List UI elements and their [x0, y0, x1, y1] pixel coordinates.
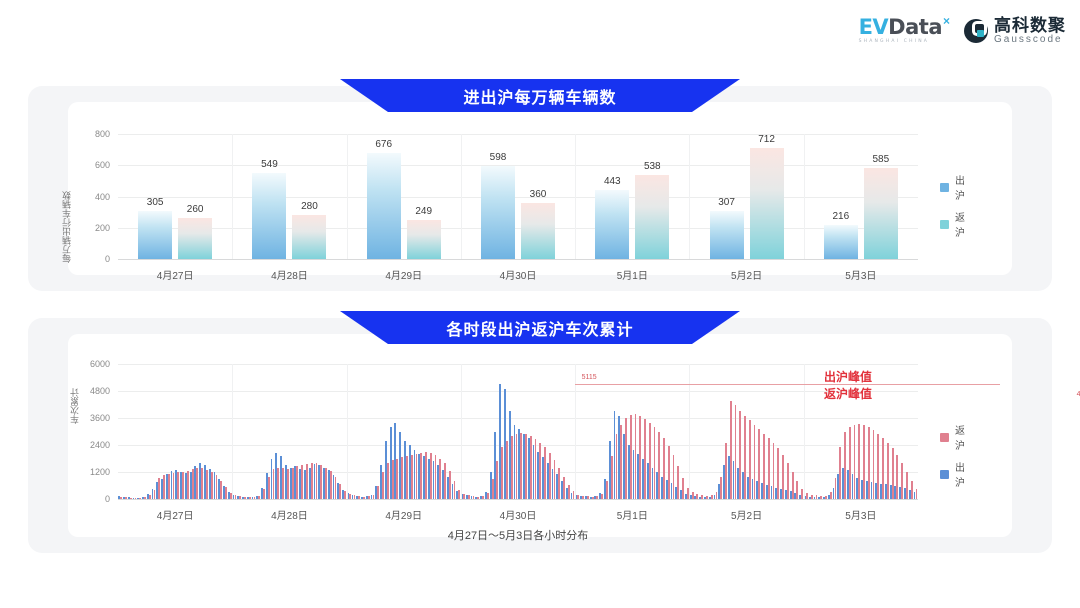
chart2-hourly-bar-ret — [316, 463, 318, 499]
page-header: EV Data × SHANGHAI CHINA 高科数聚 Gausscode — [0, 0, 1080, 62]
chart2-hourly-bar-ret — [668, 446, 670, 499]
chart2-y-tick-1200: 1200 — [66, 467, 110, 477]
chart2-hourly-bar-ret — [730, 401, 732, 499]
chart2-hourly-bar-ret — [892, 448, 894, 499]
chart2-hourly-bar-ret — [525, 434, 527, 499]
chart1-bar-label: 249 — [402, 206, 446, 217]
chart2-gridline — [118, 364, 918, 365]
chart1-bar-返沪-4月30日 — [521, 203, 555, 259]
chart2-hourly-bar-ret — [825, 496, 827, 499]
chart2-hourly-bar-ret — [582, 496, 584, 499]
chart2-hourly-bar-ret — [754, 425, 756, 499]
chart2-gridline — [118, 418, 918, 419]
chart2-hourly-bar-ret — [882, 438, 884, 499]
chart2-hourly-bar-ret — [211, 472, 213, 499]
chart2-hourly-bar-ret — [235, 495, 237, 499]
chart2-hourly-bar-ret — [277, 468, 279, 500]
chart2-hourly-bar-ret — [225, 487, 227, 499]
chart2-hourly-bar-ret — [406, 456, 408, 499]
chart2-hourly-bar-ret — [239, 496, 241, 499]
chart2-hourly-bar-ret — [673, 455, 675, 499]
chart2-gridline — [118, 391, 918, 392]
chart2-group-separator — [461, 364, 462, 499]
chart2-hourly-bar-ret — [244, 497, 246, 499]
chart1-bar-label: 305 — [133, 197, 177, 208]
chart2-hourly-bar-ret — [496, 461, 498, 499]
chart2-group-separator — [347, 364, 348, 499]
chart1-bar-返沪-5月2日 — [750, 148, 784, 259]
chart1-bar-label: 676 — [362, 139, 406, 150]
chart2-x-tick-5月2日: 5月2日 — [731, 507, 762, 522]
chart2-hourly-bar-ret — [377, 486, 379, 499]
chart2-hourly-bar-ret — [568, 485, 570, 499]
chart1-x-tick-4月30日: 4月30日 — [500, 267, 537, 282]
chart2-hourly-bar-ret — [306, 464, 308, 499]
gausscode-g-icon — [964, 19, 988, 43]
chart2-hourly-bar-ret — [454, 481, 456, 499]
chart2-hourly-bar-ret — [258, 496, 260, 499]
chart2-hourly-bar-ret — [506, 441, 508, 500]
chart2-hourly-bar-ret — [296, 466, 298, 499]
chart2-hourly-bar-ret — [320, 465, 322, 499]
chart1-group-separator — [575, 134, 576, 259]
chart2-legend-swatch-返沪 — [940, 433, 949, 442]
chart2-hourly-bar-ret — [154, 490, 156, 499]
chart2-hourly-bar-ret — [630, 415, 632, 499]
chart2-group-separator — [232, 364, 233, 499]
chart1-group-separator — [347, 134, 348, 259]
chart2-hourly-bar-ret — [516, 434, 518, 499]
chart1-x-tick-4月28日: 4月28日 — [271, 267, 308, 282]
chart1-title-banner: 进出沪每万辆车辆数 — [340, 79, 740, 112]
evdata-logo-wordmark: EV Data × — [859, 17, 950, 38]
chart2-hourly-bar-ret — [658, 432, 660, 500]
chart1-legend-item-出沪[interactable]: 出沪 — [940, 172, 965, 202]
chart2-hourly-bar-ret — [887, 443, 889, 499]
chart2-hourly-bar-ret — [477, 497, 479, 499]
chart1-plot: 每万辆出行车辆数02004006008003052604月27日5492804月… — [118, 134, 918, 259]
chart2-x-tick-4月30日: 4月30日 — [500, 507, 537, 522]
chart2-hourly-bar-ret — [349, 494, 351, 499]
chart2-peak-label-out-peak: 出沪峰值 — [824, 368, 872, 385]
chart2-hourly-bar-ret — [325, 468, 327, 500]
chart2-hourly-bar-ret — [182, 472, 184, 499]
chart2-hourly-bar-ret — [539, 443, 541, 499]
chart1-legend-swatch-返沪 — [940, 220, 949, 229]
chart2-x-axis-label: 4月27日～5月3日各小时分布 — [448, 527, 589, 543]
chart2-hourly-bar-ret — [763, 434, 765, 499]
chart2-hourly-bar-ret — [301, 465, 303, 499]
chart2-hourly-bar-ret — [773, 443, 775, 499]
chart2-hourly-bar-ret — [811, 495, 813, 500]
chart2-hourly-bar-ret — [487, 493, 489, 499]
chart2-hourly-bar-ret — [739, 411, 741, 499]
chart2-hourly-bar-ret — [792, 472, 794, 499]
chart1-gridline — [118, 259, 918, 260]
chart2-peak-label-ret-peak: 返沪峰值 — [824, 385, 872, 402]
chart1-y-tick-0: 0 — [70, 254, 110, 264]
chart1-y-tick-600: 600 — [70, 160, 110, 170]
chart2-hourly-bar-ret — [411, 455, 413, 499]
chart2-hourly-bar-ret — [577, 495, 579, 499]
chart1-bar-label: 585 — [859, 154, 903, 165]
chart2-hourly-bar-ret — [420, 453, 422, 499]
chart2-hourly-bar-ret — [125, 497, 127, 499]
chart2-hourly-bar-ret — [177, 472, 179, 499]
chart2-hourly-bar-ret — [816, 495, 818, 499]
gausscode-logo-cn: 高科数聚 — [994, 17, 1066, 35]
chart2-hourly-bar-ret — [387, 463, 389, 499]
chart2-title-banner: 各时段出沪返沪车次累计 — [340, 311, 740, 344]
chart2-x-tick-5月1日: 5月1日 — [617, 507, 648, 522]
chart1-y-tick-400: 400 — [70, 192, 110, 202]
chart2-hourly-bar-ret — [544, 447, 546, 499]
chart2-hourly-bar-ret — [849, 427, 851, 499]
gausscode-logo-text: 高科数聚 Gausscode — [994, 17, 1066, 45]
chart1-group-separator — [232, 134, 233, 259]
chart2-hourly-bar-ret — [758, 429, 760, 499]
chart2-hourly-bar-ret — [716, 492, 718, 499]
chart2-hourly-bar-ret — [854, 425, 856, 499]
chart2-hourly-bar-ret — [896, 455, 898, 499]
chart2-hourly-bar-ret — [249, 497, 251, 499]
logo-group: EV Data × SHANGHAI CHINA 高科数聚 Gausscode — [859, 17, 1066, 45]
chart1-bar-label: 280 — [287, 201, 331, 212]
chart2-hourly-bar-ret — [787, 463, 789, 499]
chart2-hourly-bar-ret — [468, 495, 470, 499]
chart2-hourly-bar-ret — [416, 454, 418, 499]
chart2-hourly-bar-ret — [530, 436, 532, 499]
chart2-hourly-bar-ret — [373, 495, 375, 499]
chart2-hourly-bar-ret — [187, 471, 189, 499]
chart1-legend-swatch-出沪 — [940, 183, 949, 192]
chart2-hourly-bar-ret — [768, 438, 770, 499]
chart2-hourly-bar-ret — [725, 443, 727, 499]
evdata-logo-x-icon: × — [943, 15, 950, 27]
chart2-peak-line-out-peak — [575, 384, 1000, 385]
chart2-hourly-bar-ret — [473, 496, 475, 499]
chart2-hourly-bar-ret — [587, 496, 589, 499]
chart2-hourly-bar-ret — [601, 494, 603, 499]
chart2-hourly-bar-ret — [877, 434, 879, 499]
chart1-bar-label: 260 — [173, 204, 217, 215]
chart2-hourly-bar-ret — [435, 455, 437, 499]
chart2-hourly-bar-ret — [639, 416, 641, 499]
chart2-hourly-bar-ret — [616, 434, 618, 499]
chart2-hourly-bar-ret — [339, 484, 341, 499]
chart2-hourly-bar-ret — [777, 448, 779, 499]
chart2-hourly-bar-ret — [906, 472, 908, 499]
chart2-hourly-bar-ret — [273, 469, 275, 499]
chart1-bar-出沪-4月29日 — [367, 153, 401, 259]
chart2-hourly-bar-ret — [368, 496, 370, 499]
chart2-plot: 车次累计0120024003600480060004月27日4月28日4月29日… — [118, 364, 918, 499]
chart2-hourly-bar-ret — [720, 477, 722, 500]
evdata-logo-data-text: Data — [888, 17, 942, 38]
chart1-bar-返沪-4月27日 — [178, 218, 212, 259]
chart2-hourly-bar-ret — [511, 436, 513, 499]
chart2-hourly-bar-ret — [554, 460, 556, 499]
chart1-bar-返沪-5月3日 — [864, 168, 898, 259]
chart2-hourly-bar-ret — [549, 453, 551, 499]
chart2-hourly-bar-ret — [149, 495, 151, 500]
chart2-hourly-bar-ret — [292, 468, 294, 500]
chart1-group-separator — [461, 134, 462, 259]
chart2-hourly-bar-ret — [120, 497, 122, 499]
chart1-bar-label: 307 — [705, 197, 749, 208]
chart2-y-tick-2400: 2400 — [66, 440, 110, 450]
chart2-hourly-bar-ret — [654, 427, 656, 499]
chart2-hourly-bar-ret — [844, 432, 846, 500]
chart1-y-tick-200: 200 — [70, 223, 110, 233]
chart1-bar-返沪-4月29日 — [407, 220, 441, 259]
chart2-x-tick-4月29日: 4月29日 — [385, 507, 422, 522]
chart2-hourly-bar-ret — [220, 481, 222, 499]
chart2-x-tick-5月3日: 5月3日 — [845, 507, 876, 522]
chart2-hourly-bar-ret — [201, 468, 203, 499]
chart2-hourly-bar-ret — [873, 430, 875, 499]
chart2-hourly-bar-ret — [492, 479, 494, 499]
chart1-bar-出沪-4月27日 — [138, 211, 172, 259]
chart2-hourly-bar-ret — [620, 425, 622, 499]
chart2-hourly-bar-ret — [254, 497, 256, 499]
chart2-hourly-bar-ret — [392, 460, 394, 499]
gausscode-logo-en: Gausscode — [994, 35, 1066, 46]
chart2-hourly-bar-ret — [835, 478, 837, 499]
chart2-gridline — [118, 499, 918, 500]
chart1-bar-label: 598 — [476, 152, 520, 163]
chart2-hourly-bar-ret — [649, 423, 651, 500]
chart2-hourly-bar-ret — [135, 498, 137, 499]
chart2-hourly-bar-ret — [130, 498, 132, 499]
chart1-gridline — [118, 228, 918, 229]
chart1-bar-出沪-4月30日 — [481, 166, 515, 259]
chart2-hourly-bar-ret — [358, 496, 360, 499]
chart1-group-separator — [804, 134, 805, 259]
chart2-peak-value-out-peak: 5115 — [582, 374, 597, 381]
chart2-hourly-bar-ret — [206, 470, 208, 499]
chart2-hourly-bar-ret — [706, 496, 708, 499]
evdata-logo-subtitle: SHANGHAI CHINA — [859, 40, 930, 45]
chart1-group-separator — [689, 134, 690, 259]
chart2-hourly-bar-ret — [606, 481, 608, 499]
chart1-bar-出沪-5月3日 — [824, 225, 858, 259]
chart2-hourly-bar-ret — [611, 456, 613, 499]
chart2-hourly-bar-ret — [401, 457, 403, 499]
chart1-bar-返沪-4月28日 — [292, 215, 326, 259]
chart2-hourly-bar-ret — [287, 469, 289, 499]
chart2-hourly-bar-ret — [216, 475, 218, 499]
chart2-hourly-bar-ret — [425, 452, 427, 499]
chart1-bar-出沪-5月1日 — [595, 190, 629, 259]
chart2-hourly-bar-ret — [644, 419, 646, 499]
chart1-x-tick-4月29日: 4月29日 — [385, 267, 422, 282]
chart2-y-tick-6000: 6000 — [66, 359, 110, 369]
chart1-legend-item-返沪[interactable]: 返沪 — [940, 209, 965, 239]
chart1-x-tick-5月3日: 5月3日 — [845, 267, 876, 282]
chart2-hourly-bar-ret — [263, 489, 265, 499]
chart2-hourly-bar-ret — [330, 471, 332, 499]
chart2-legend-label: 出沪 — [955, 459, 965, 489]
chart1-legend-label: 出沪 — [955, 172, 965, 202]
chart1-x-tick-5月2日: 5月2日 — [731, 267, 762, 282]
chart2-y-tick-4800: 4800 — [66, 386, 110, 396]
chart2-hourly-bar-ret — [144, 497, 146, 499]
chart2-hourly-bar-ret — [535, 439, 537, 499]
chart1-x-tick-5月1日: 5月1日 — [617, 267, 648, 282]
chart2-hourly-bar-ret — [692, 492, 694, 499]
evdata-logo-ev-text: EV — [859, 17, 889, 38]
chart1-legend-label: 返沪 — [955, 209, 965, 239]
chart2-hourly-bar-ret — [354, 495, 356, 499]
chart2-hourly-bar-ret — [901, 463, 903, 499]
chart2-hourly-bar-ret — [820, 496, 822, 499]
chart2-hourly-bar-ret — [158, 478, 160, 499]
chart1-bar-返沪-5月1日 — [635, 175, 669, 259]
chart2-hourly-bar-ret — [868, 427, 870, 499]
chart1-bar-label: 443 — [590, 176, 634, 187]
chart2-hourly-bar-ret — [382, 472, 384, 499]
gausscode-logo: 高科数聚 Gausscode — [964, 17, 1066, 45]
chart2-x-tick-4月27日: 4月27日 — [157, 507, 194, 522]
chart2-hourly-bar-ret — [463, 494, 465, 499]
chart2-y-tick-3600: 3600 — [66, 413, 110, 423]
chart2-hourly-bar-ret — [520, 433, 522, 499]
chart2-hourly-bar-ret — [596, 496, 598, 499]
chart2-hourly-bar-ret — [282, 468, 284, 499]
chart2-legend-swatch-出沪 — [940, 470, 949, 479]
chart2-hourly-bar-ret — [863, 425, 865, 499]
chart2-hourly-bar-ret — [444, 463, 446, 499]
chart1-y-tick-800: 800 — [70, 129, 110, 139]
chart1-legend: 出沪返沪 — [940, 172, 965, 246]
chart2-hourly-bar-ret — [192, 469, 194, 499]
chart1-bar-出沪-5月2日 — [710, 211, 744, 259]
chart2-hourly-bar-ret — [911, 481, 913, 499]
chart1-bar-label: 360 — [516, 189, 560, 200]
chart2-hourly-bar-ret — [839, 447, 841, 499]
chart2-hourly-bar-ret — [311, 463, 313, 499]
chart2-hourly-bar-ret — [682, 478, 684, 499]
chart2-legend-item-返沪[interactable]: 返沪 — [940, 422, 965, 452]
chart2-hourly-bar-ret — [735, 405, 737, 500]
chart2-hourly-bar-ret — [744, 416, 746, 499]
chart2-hourly-bar-ret — [430, 453, 432, 499]
chart2-hourly-bar-ret — [482, 496, 484, 499]
chart2-hourly-bar-ret — [858, 424, 860, 499]
chart2-legend-item-出沪[interactable]: 出沪 — [940, 459, 965, 489]
chart2-hourly-bar-ret — [168, 474, 170, 499]
chart2-hourly-bar-ret — [677, 466, 679, 499]
chart2-hourly-bar-ret — [625, 418, 627, 499]
chart2-legend-label: 返沪 — [955, 422, 965, 452]
chart2-hourly-bar-ret — [711, 495, 713, 499]
chart2-legend: 返沪出沪 — [940, 422, 965, 496]
chart1-bar-label: 216 — [819, 211, 863, 222]
chart2-hourly-bar-ret — [796, 481, 798, 499]
chart1-gridline — [118, 165, 918, 166]
chart2-hourly-bar-ret — [563, 477, 565, 500]
chart2-hourly-bar-ret — [782, 455, 784, 499]
chart2-hourly-bar-ret — [592, 497, 594, 499]
evdata-logo: EV Data × SHANGHAI CHINA — [859, 17, 950, 45]
chart2-hourly-bar-ret — [696, 494, 698, 499]
chart2-hourly-bar-ret — [449, 471, 451, 499]
chart2-peak-value-ret-peak: 4360 — [1077, 391, 1080, 398]
chart1-bar-label: 712 — [745, 134, 789, 145]
chart2-hourly-bar-ret — [501, 447, 503, 499]
chart2-hourly-bar-ret — [196, 468, 198, 500]
chart2-hourly-bar-ret — [558, 468, 560, 500]
chart2-hourly-bar-ret — [335, 477, 337, 500]
chart2-hourly-bar-ret — [363, 497, 365, 499]
chart1-gridline — [118, 134, 918, 135]
chart2-hourly-bar-ret — [163, 475, 165, 499]
chart2-hourly-bar-ret — [173, 473, 175, 499]
chart2-hourly-bar-ret — [701, 495, 703, 499]
chart1-bar-label: 538 — [630, 161, 674, 172]
chart2-hourly-bar-ret — [806, 493, 808, 499]
chart2-hourly-bar-ret — [396, 459, 398, 500]
chart2-hourly-bar-ret — [749, 420, 751, 499]
chart2-hourly-bar-ret — [635, 414, 637, 500]
chart2-x-tick-4月28日: 4月28日 — [271, 507, 308, 522]
chart1-x-tick-4月27日: 4月27日 — [157, 267, 194, 282]
chart2-hourly-bar-ret — [916, 489, 918, 499]
chart2-hourly-bar-ret — [139, 498, 141, 499]
chart2-hourly-bar-ret — [268, 477, 270, 500]
chart2-hourly-bar-ret — [830, 492, 832, 499]
chart2-hourly-bar-ret — [663, 438, 665, 499]
chart2-y-tick-0: 0 — [66, 494, 110, 504]
chart2-hourly-bar-ret — [439, 459, 441, 500]
chart1-bar-出沪-4月28日 — [252, 173, 286, 259]
chart1-bar-label: 549 — [247, 159, 291, 170]
